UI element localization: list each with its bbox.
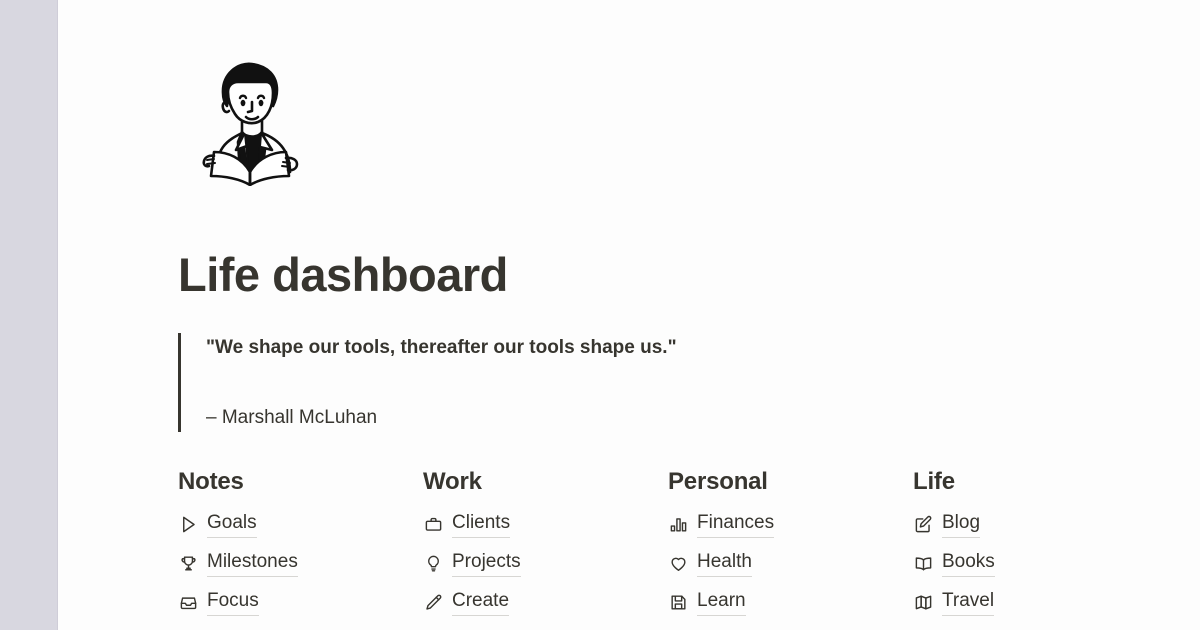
open-book-icon	[913, 554, 933, 574]
link-label: Travel	[942, 589, 994, 616]
sidebar-rail[interactable]	[0, 0, 58, 630]
folded-map-icon	[913, 593, 933, 613]
bar-chart-icon	[668, 515, 688, 535]
link-label: Projects	[452, 550, 521, 577]
column-personal: Personal Finances Health	[668, 468, 913, 622]
quote-attribution: – Marshall McLuhan	[206, 404, 1200, 433]
trophy-icon	[178, 554, 198, 574]
column-work: Work Clients Projects	[423, 468, 668, 622]
briefcase-icon	[423, 515, 443, 535]
link-finances[interactable]: Finances	[668, 505, 913, 544]
link-focus[interactable]: Focus	[178, 583, 423, 622]
navigation-cursor-icon	[178, 515, 198, 535]
page-content: Life dashboard "We shape our tools, ther…	[58, 0, 1200, 630]
link-label: Clients	[452, 511, 510, 538]
link-label: Blog	[942, 511, 980, 538]
link-projects[interactable]: Projects	[423, 544, 668, 583]
link-create[interactable]: Create	[423, 583, 668, 622]
column-title-personal: Personal	[668, 468, 913, 497]
link-label: Health	[697, 550, 752, 577]
column-life: Life Blog Books T	[913, 468, 1158, 622]
link-travel[interactable]: Travel	[913, 583, 1158, 622]
square-pen-icon	[913, 515, 933, 535]
link-label: Create	[452, 589, 509, 616]
link-label: Finances	[697, 511, 774, 538]
link-label: Focus	[207, 589, 259, 616]
column-title-life: Life	[913, 468, 1158, 497]
link-label: Goals	[207, 511, 257, 538]
link-blog[interactable]: Blog	[913, 505, 1158, 544]
link-label: Books	[942, 550, 995, 577]
heart-icon	[668, 554, 688, 574]
column-notes: Notes Goals Milestones	[178, 468, 423, 622]
link-goals[interactable]: Goals	[178, 505, 423, 544]
floppy-save-icon	[668, 593, 688, 613]
quote-text: "We shape our tools, thereafter our tool…	[206, 333, 1200, 363]
link-clients[interactable]: Clients	[423, 505, 668, 544]
pencil-icon	[423, 593, 443, 613]
page-inner: Life dashboard "We shape our tools, ther…	[58, 0, 1200, 622]
link-books[interactable]: Books	[913, 544, 1158, 583]
link-label: Milestones	[207, 550, 298, 577]
link-milestones[interactable]: Milestones	[178, 544, 423, 583]
link-health[interactable]: Health	[668, 544, 913, 583]
inbox-tray-icon	[178, 593, 198, 613]
person-reading-book-illustration	[178, 46, 318, 186]
page-icon[interactable]	[178, 46, 1200, 186]
page-title: Life dashboard	[178, 250, 1200, 299]
link-columns: Notes Goals Milestones	[178, 468, 1200, 622]
link-label: Learn	[697, 589, 746, 616]
quote-block: "We shape our tools, thereafter our tool…	[178, 333, 1200, 432]
link-learn[interactable]: Learn	[668, 583, 913, 622]
lightbulb-icon	[423, 554, 443, 574]
column-title-work: Work	[423, 468, 668, 497]
column-title-notes: Notes	[178, 468, 423, 497]
